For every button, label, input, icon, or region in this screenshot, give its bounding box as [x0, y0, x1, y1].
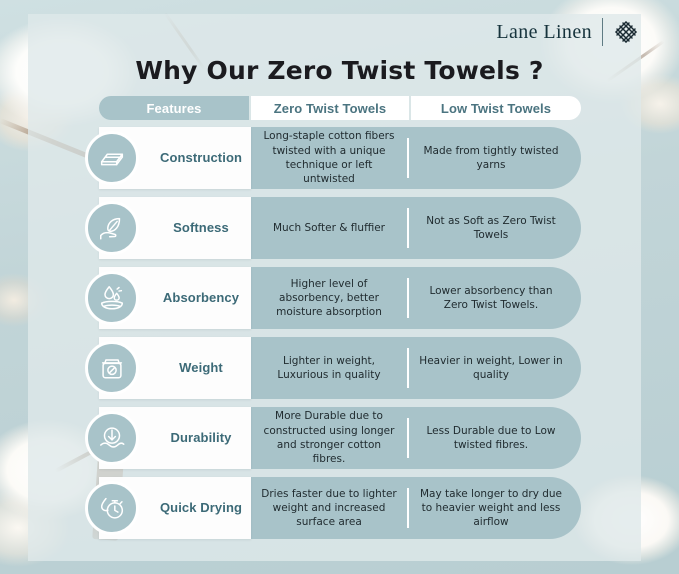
low-twist-value: Lower absorbency than Zero Twist Towels. [409, 267, 581, 329]
kitchen-scale-icon [85, 341, 139, 395]
feature-cell: Absorbency [99, 267, 251, 329]
low-twist-value: Not as Soft as Zero Twist Towels [409, 197, 581, 259]
zero-twist-value: Long-staple cotton fibers twisted with a… [251, 127, 407, 189]
table-row: Construction Long-staple cotton fibers t… [99, 127, 581, 189]
table-row: Weight Lighter in weight, Luxurious in q… [99, 337, 581, 399]
zero-twist-value: Higher level of absorbency, better moist… [251, 267, 407, 329]
column-header-low-twist: Low Twist Towels [411, 96, 581, 120]
droplet-stopwatch-icon [85, 481, 139, 535]
zero-twist-value: Dries faster due to lighter weight and i… [251, 477, 407, 539]
feature-cell: Softness [99, 197, 251, 259]
feature-label: Absorbency [151, 291, 251, 306]
brand-divider [602, 18, 603, 46]
feature-cell: Weight [99, 337, 251, 399]
table-row: Quick Drying Dries faster due to lighter… [99, 477, 581, 539]
low-twist-value: May take longer to dry due to heavier we… [409, 477, 581, 539]
feature-label: Softness [151, 221, 251, 236]
feature-label: Quick Drying [151, 501, 251, 516]
feature-label: Weight [151, 361, 251, 376]
table-row: Softness Much Softer & fluffier Not as S… [99, 197, 581, 259]
column-header-zero-twist: Zero Twist Towels [251, 96, 409, 120]
low-twist-value: Heavier in weight, Lower in quality [409, 337, 581, 399]
column-header-features: Features [99, 96, 249, 120]
low-twist-value: Made from tightly twisted yarns [409, 127, 581, 189]
folded-towel-icon [85, 131, 139, 185]
table-row: Durability More Durable due to construct… [99, 407, 581, 469]
zero-twist-value: More Durable due to constructed using lo… [251, 407, 407, 469]
feature-cell: Quick Drying [99, 477, 251, 539]
zero-twist-value: Lighter in weight, Luxurious in quality [251, 337, 407, 399]
zero-twist-value: Much Softer & fluffier [251, 197, 407, 259]
woven-diamond-logo-icon [613, 19, 639, 45]
page-title: Why Our Zero Twist Towels ? [0, 56, 679, 85]
feature-label: Durability [151, 431, 251, 446]
feature-cell: Construction [99, 127, 251, 189]
table-row: Absorbency Higher level of absorbency, b… [99, 267, 581, 329]
brand-name: Lane Linen [496, 21, 592, 44]
comparison-table: Features Zero Twist Towels Low Twist Tow… [99, 96, 581, 547]
feature-label: Construction [151, 151, 251, 166]
downward-arrow-wave-icon [85, 411, 139, 465]
hand-feather-icon [85, 201, 139, 255]
low-twist-value: Less Durable due to Low twisted fibres. [409, 407, 581, 469]
feature-cell: Durability [99, 407, 251, 469]
infographic-stage: Lane Linen Why Our Zero Twist Towe [0, 0, 679, 574]
table-header-row: Features Zero Twist Towels Low Twist Tow… [99, 96, 581, 120]
water-droplets-absorb-icon [85, 271, 139, 325]
brand-lockup: Lane Linen [496, 18, 639, 46]
